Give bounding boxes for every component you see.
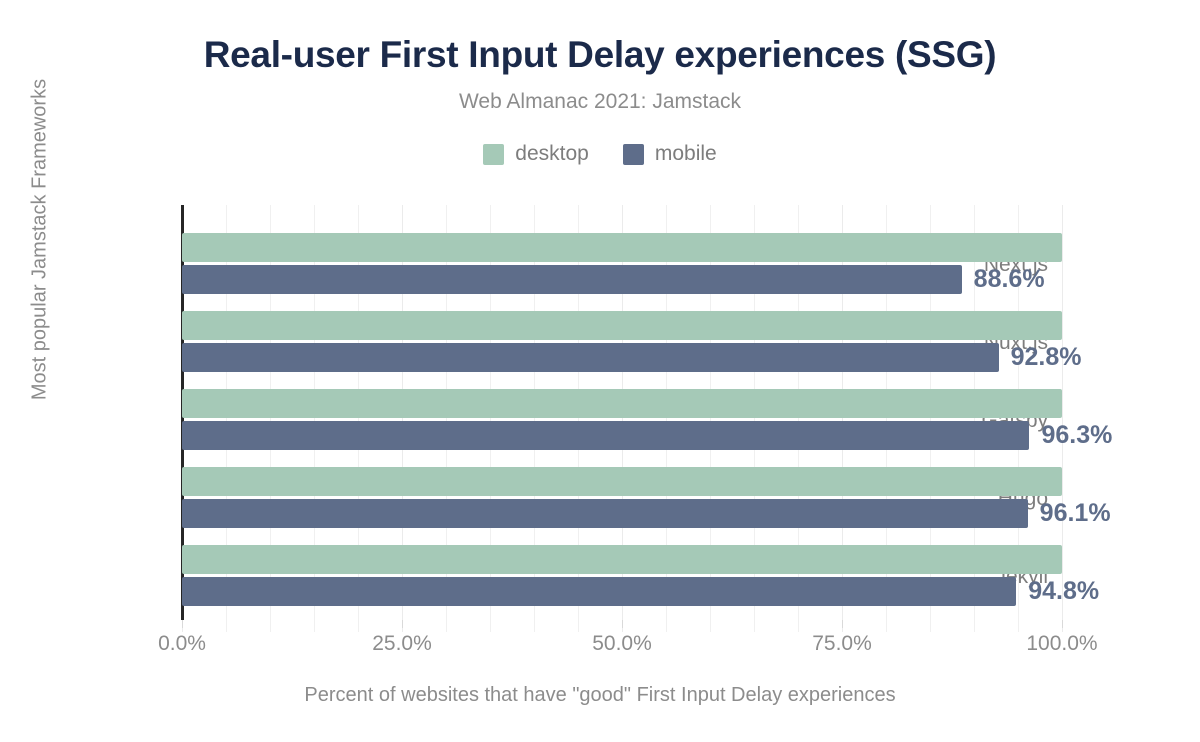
bar-desktop[interactable] xyxy=(182,545,1062,574)
bar-group: Nuxt.js92.8% xyxy=(182,311,1062,372)
bar-desktop[interactable] xyxy=(182,233,1062,262)
legend-label-desktop: desktop xyxy=(515,142,589,166)
x-axis-ticks: 0.0%25.0%50.0%75.0%100.0% xyxy=(182,620,1062,660)
bar-mobile[interactable] xyxy=(182,265,962,294)
x-tick-label: 25.0% xyxy=(372,632,432,656)
bar-mobile[interactable] xyxy=(182,577,1016,606)
bar-value-label: 92.8% xyxy=(999,343,1082,372)
legend-swatch-mobile xyxy=(623,144,644,165)
legend-label-mobile: mobile xyxy=(655,142,717,166)
chart-title: Real-user First Input Delay experiences … xyxy=(0,34,1200,76)
bar-group: Next.js88.6% xyxy=(182,233,1062,294)
y-axis-title: Most popular Jamstack Frameworks xyxy=(29,50,52,430)
bar-rows: Next.js88.6%Nuxt.js92.8%Gatsby96.3%Hugo9… xyxy=(182,205,1062,620)
x-tick-label: 100.0% xyxy=(1026,632,1097,656)
chart-figure: Real-user First Input Delay experiences … xyxy=(0,0,1200,742)
gridline xyxy=(1062,205,1063,632)
x-tick-mark xyxy=(842,620,843,628)
x-tick-label: 75.0% xyxy=(812,632,872,656)
x-tick-label: 0.0% xyxy=(158,632,206,656)
bar-value-label: 88.6% xyxy=(962,265,1045,294)
bar-group: Hugo96.1% xyxy=(182,467,1062,528)
legend-item-mobile[interactable]: mobile xyxy=(623,142,717,166)
bar-group: Jekyll94.8% xyxy=(182,545,1062,606)
x-tick-label: 50.0% xyxy=(592,632,652,656)
x-tick-mark xyxy=(182,620,183,628)
x-tick-mark xyxy=(402,620,403,628)
x-axis-title: Percent of websites that have "good" Fir… xyxy=(0,684,1200,707)
bar-value-label: 96.1% xyxy=(1028,499,1111,528)
legend-swatch-desktop xyxy=(483,144,504,165)
plot-area: Next.js88.6%Nuxt.js92.8%Gatsby96.3%Hugo9… xyxy=(182,205,1062,620)
x-tick-mark xyxy=(622,620,623,628)
bar-mobile[interactable] xyxy=(182,343,999,372)
x-tick-mark xyxy=(1062,620,1063,628)
chart-subtitle: Web Almanac 2021: Jamstack xyxy=(0,90,1200,114)
bar-desktop[interactable] xyxy=(182,311,1062,340)
bar-value-label: 96.3% xyxy=(1029,421,1112,450)
bar-mobile[interactable] xyxy=(182,499,1028,528)
chart-legend: desktop mobile xyxy=(0,142,1200,166)
bar-mobile[interactable] xyxy=(182,421,1029,450)
bar-desktop[interactable] xyxy=(182,389,1062,418)
bar-desktop[interactable] xyxy=(182,467,1062,496)
legend-item-desktop[interactable]: desktop xyxy=(483,142,589,166)
bar-value-label: 94.8% xyxy=(1016,577,1099,606)
bar-group: Gatsby96.3% xyxy=(182,389,1062,450)
